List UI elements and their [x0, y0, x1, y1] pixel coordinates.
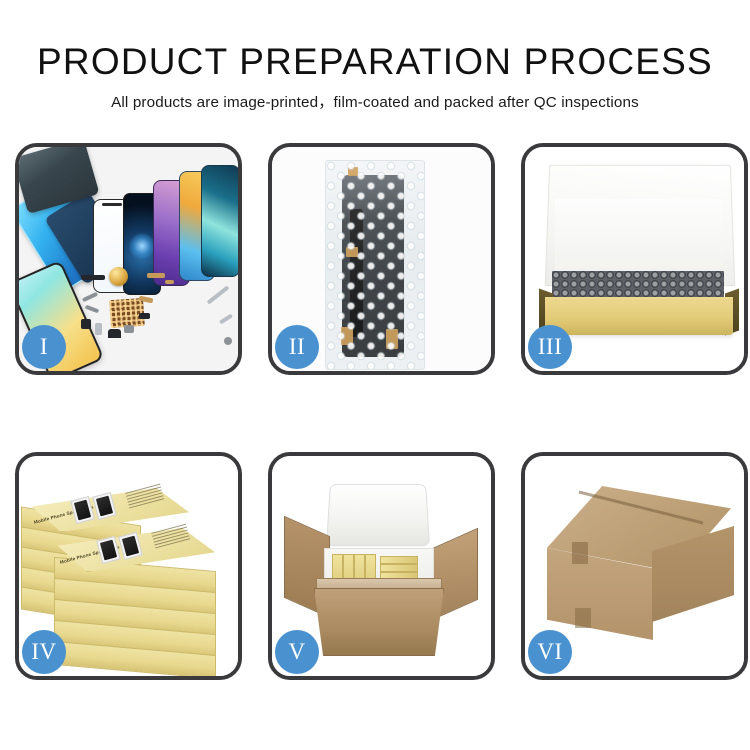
part-icon-1: [81, 275, 105, 280]
part-icon-7: [95, 323, 102, 335]
page-subtitle: All products are image-printed，film-coat…: [0, 90, 750, 112]
carton-tape-upper: [572, 542, 588, 564]
process-step-6[interactable]: VI: [521, 452, 748, 680]
white-foam-icon: [555, 199, 723, 273]
page-header: PRODUCT PREPARATION PROCESS All products…: [0, 0, 750, 128]
part-icon-11: [139, 313, 150, 319]
process-step-3[interactable]: III: [521, 143, 748, 375]
process-step-4[interactable]: Mobile Phone Spare Parts Mobile Phone Sp…: [15, 452, 242, 680]
step-4-badge: IV: [22, 630, 66, 674]
part-icon-9: [124, 325, 134, 333]
process-steps-grid: I II: [15, 143, 735, 680]
carton-body: [314, 588, 444, 656]
bubble-texture: [326, 161, 424, 369]
process-step-1[interactable]: I: [15, 143, 242, 375]
part-icon-8: [108, 329, 121, 338]
bubble-bag-icon: [325, 160, 425, 370]
speaker-coil-icon: [109, 267, 128, 286]
screwdriver-icon: [219, 314, 233, 325]
yellow-box-front-icon: [545, 297, 733, 335]
step-3-badge: III: [528, 325, 572, 369]
screw-icon: [224, 337, 232, 345]
packed-yellow-box: [380, 556, 418, 564]
teal-phone-icon: [201, 165, 238, 277]
step-2-badge: II: [275, 325, 319, 369]
process-step-5[interactable]: V: [268, 452, 495, 680]
part-icon-5: [85, 305, 100, 314]
step-6-badge: VI: [528, 630, 572, 674]
part-icon-2: [147, 273, 165, 278]
carton-tape-lower: [575, 608, 591, 628]
step-5-badge: V: [275, 630, 319, 674]
page-title: PRODUCT PREPARATION PROCESS: [0, 41, 750, 83]
process-step-2[interactable]: II: [268, 143, 495, 375]
tweezers-icon: [207, 285, 230, 304]
step-1-badge: I: [22, 325, 66, 369]
part-icon-6: [81, 319, 91, 329]
packed-yellow-box: [380, 564, 418, 572]
part-icon-3: [165, 280, 174, 284]
part-icon-4: [82, 292, 98, 302]
foam-lid-icon: [326, 484, 430, 546]
